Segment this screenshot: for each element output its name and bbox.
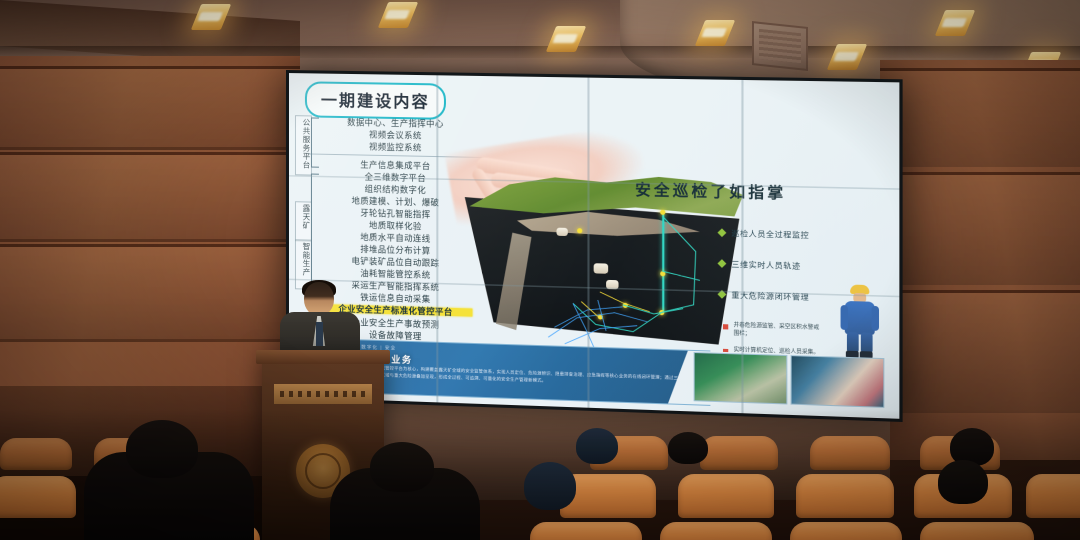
seat <box>796 474 894 518</box>
monitoring-network-overlay <box>442 146 763 358</box>
seat <box>0 476 76 518</box>
control-room-thumbnail <box>790 355 884 408</box>
mining-equipment-icon <box>594 263 609 274</box>
audience-head <box>370 442 434 492</box>
podium-top <box>256 350 390 364</box>
three-d-open-pit-mine-model <box>442 146 763 358</box>
legend-item: 井巷危险源监管、采空区积水警戒围栏； <box>734 322 823 341</box>
mine-aerial-thumbnail <box>694 352 787 404</box>
audience-head <box>668 432 708 464</box>
seat <box>530 522 642 540</box>
audience-head <box>938 460 988 504</box>
bullet-item: 重大危险源闭环管理 <box>731 289 809 303</box>
seat <box>678 474 774 518</box>
vertical-label-public-service: 公共服务平台 <box>295 115 312 175</box>
inspection-worker-illustration <box>842 284 878 360</box>
seat <box>700 436 778 470</box>
audience-head <box>126 420 198 478</box>
seat <box>660 522 772 540</box>
seat <box>810 436 890 470</box>
mining-equipment-icon <box>556 228 567 236</box>
slide-title: 一期建设内容 <box>305 81 446 120</box>
podium-nameplate <box>274 384 372 404</box>
legend-marker-icon <box>723 324 728 329</box>
seat <box>1026 474 1080 518</box>
bullet-item: 三维实时人员轨迹 <box>731 259 800 272</box>
presenter-head <box>304 282 334 316</box>
network-lines-icon <box>442 146 763 358</box>
right-wall <box>880 60 1080 460</box>
ceiling-vent-icon <box>752 21 808 71</box>
slide-heading: 安全巡检了如指掌 <box>635 178 786 203</box>
seat <box>0 438 72 470</box>
auditorium-scene: 一期建设内容 公共服务平台 露天矿 智能生产 数据中心、生产指挥中心 视频会议系… <box>0 0 1080 540</box>
thumbnail-strip <box>694 352 885 408</box>
audience-head <box>576 428 618 464</box>
list-brace <box>311 174 312 292</box>
seat <box>920 522 1034 540</box>
list-item: 数据中心、生产指挥中心 <box>319 118 473 129</box>
list-item: 视频会议系统 <box>319 130 473 141</box>
list-brace <box>311 117 312 167</box>
mining-equipment-icon <box>606 280 618 290</box>
vertical-label-open-pit: 露天矿 <box>295 201 312 241</box>
bullet-item: 巡检人员全过程监控 <box>731 228 809 241</box>
audience-head <box>524 462 576 510</box>
presenter-tie <box>316 322 323 346</box>
seat <box>790 522 902 540</box>
audience-area <box>0 410 1080 540</box>
